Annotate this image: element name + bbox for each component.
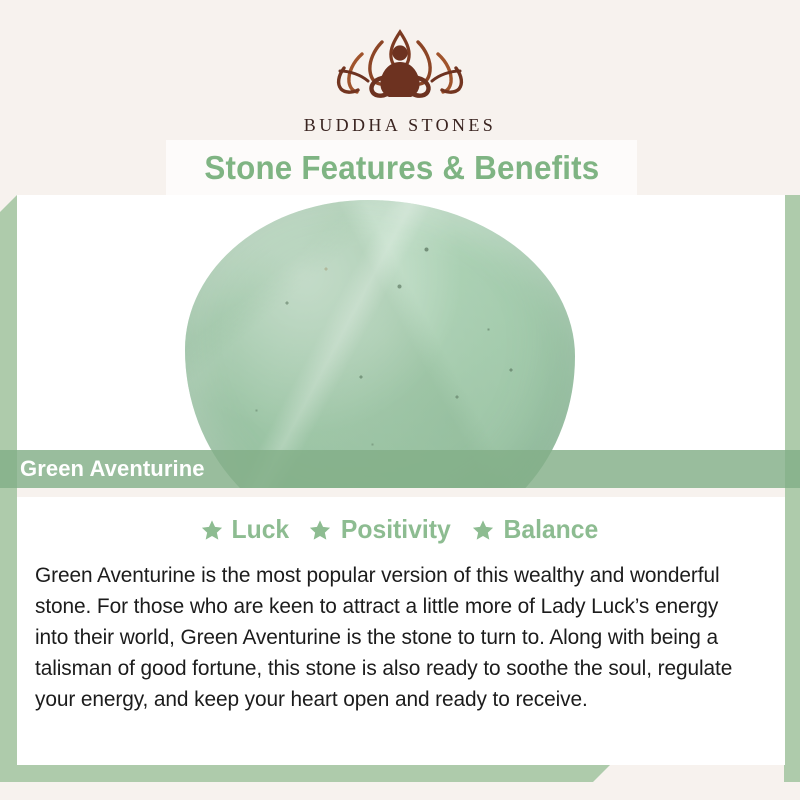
benefits-list: Luck Positivity Balance [17, 514, 785, 545]
star-icon [201, 519, 223, 541]
benefit-label: Balance [503, 514, 598, 545]
brand-name: BUDDHA STONES [304, 115, 496, 136]
benefit-item: Balance [472, 514, 601, 545]
star-icon [472, 519, 494, 541]
benefit-item: Positivity [309, 514, 454, 545]
benefit-label: Luck [232, 514, 290, 545]
decorative-band-left [0, 195, 17, 782]
star-icon [309, 519, 331, 541]
brand-logo: BUDDHA STONES [0, 18, 800, 136]
benefit-label: Positivity [341, 514, 451, 545]
stone-name-bar: Green Aventurine [0, 450, 800, 488]
page-title: Stone Features & Benefits [204, 149, 599, 187]
lotus-meditation-figure-icon [316, 18, 484, 110]
content-top-strip [17, 488, 785, 497]
stone-name-label: Green Aventurine [20, 456, 205, 482]
title-panel: Stone Features & Benefits [166, 140, 637, 195]
stone-description: Green Aventurine is the most popular ver… [35, 560, 755, 715]
poster-canvas: BUDDHA STONES Stone Features & Benefits … [0, 0, 800, 800]
decorative-band-bottom [0, 765, 610, 782]
footer-strip [0, 782, 800, 800]
content-section: Luck Positivity Balance Green Aventurine… [17, 488, 785, 765]
benefit-item: Luck [201, 514, 291, 545]
